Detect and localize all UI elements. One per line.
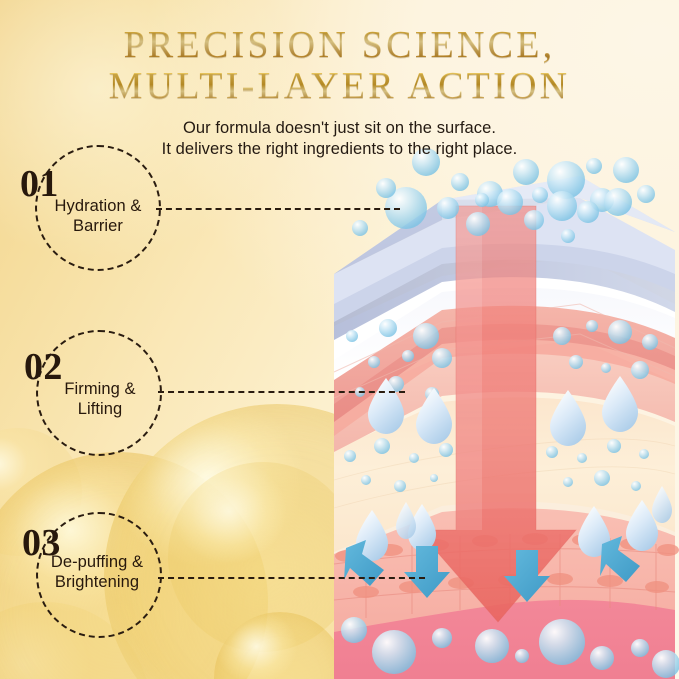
- header: PRECISION SCIENCE, MULTI-LAYER ACTION Ou…: [0, 0, 679, 161]
- callout-label-01-line-2: Barrier: [18, 217, 178, 237]
- callout-label-01-line-1: Hydration &: [18, 197, 178, 217]
- callout-label-03-line-2: Brightening: [17, 573, 177, 593]
- callout-label-03: De-puffing & Brightening: [17, 553, 177, 593]
- callout-label-02-line-2: Lifting: [20, 400, 180, 420]
- callout-leader-line-02: [158, 391, 405, 393]
- page-title-line-2: MULTI-LAYER ACTION: [0, 65, 679, 106]
- callout-leader-line-01: [156, 208, 400, 210]
- page-title-line-1: PRECISION SCIENCE,: [0, 0, 679, 65]
- subtitle-line-1: Our formula doesn't just sit on the surf…: [0, 118, 679, 140]
- callout-label-02: Firming & Lifting: [20, 380, 180, 420]
- callout-leader-line-03: [158, 577, 425, 579]
- skin-cross-section-diagram: [330, 140, 679, 679]
- callout-label-01: Hydration & Barrier: [18, 197, 178, 237]
- callout-label-02-line-1: Firming &: [20, 380, 180, 400]
- callout-label-03-line-1: De-puffing &: [17, 553, 177, 573]
